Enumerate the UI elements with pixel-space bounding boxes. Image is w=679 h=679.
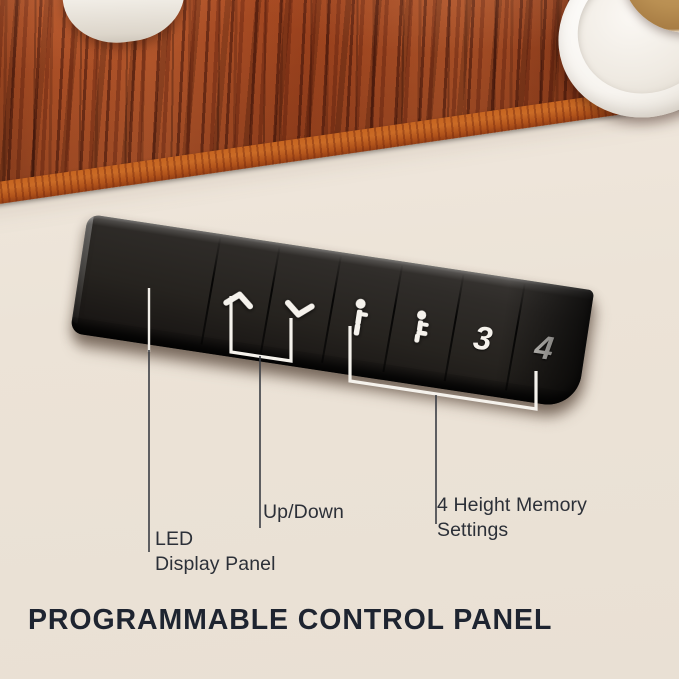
standing-person-icon	[346, 296, 376, 339]
callout-up-down: Up/Down	[263, 500, 344, 525]
chevron-down-icon	[283, 297, 316, 321]
sitting-person-icon	[407, 306, 437, 349]
chevron-up-icon	[223, 287, 256, 311]
memory-3-label: 3	[471, 318, 495, 358]
callout-height-memory: 4 Height Memory Settings	[437, 493, 587, 543]
callout-led-display: LED Display Panel	[155, 527, 276, 577]
product-image: 3 4 LED Display Panel Up/Down 4 Height M…	[0, 0, 679, 679]
headline: PROGRAMMABLE CONTROL PANEL	[28, 604, 552, 637]
